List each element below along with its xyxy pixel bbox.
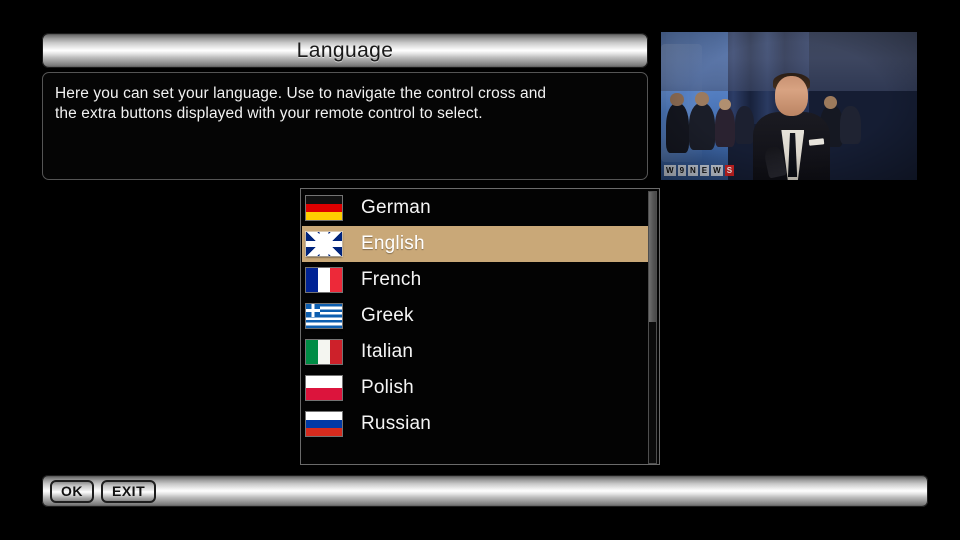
language-list-item[interactable]: Greek	[302, 298, 650, 334]
language-list-item[interactable]: Italian	[302, 334, 650, 370]
language-label: Greek	[361, 305, 414, 327]
language-label: German	[361, 197, 431, 219]
language-list-item[interactable]: English	[302, 226, 650, 262]
live-tv-preview[interactable]: W 9 N E W S	[661, 32, 917, 180]
language-list: GermanEnglishFrenchGreekItalianPolishRus…	[302, 190, 650, 442]
language-list-item[interactable]: Polish	[302, 370, 650, 406]
exit-button[interactable]: EXIT	[101, 480, 156, 503]
bottom-action-bar: OK EXIT	[42, 475, 928, 507]
language-label: French	[361, 269, 421, 291]
page-title: Language	[297, 39, 394, 63]
list-scrollbar-thumb[interactable]	[649, 192, 656, 322]
list-scrollbar[interactable]	[648, 191, 657, 464]
language-list-item[interactable]: German	[302, 190, 650, 226]
language-label: Russian	[361, 413, 431, 435]
flag-poland-icon	[306, 376, 342, 400]
language-label: English	[361, 233, 425, 255]
language-list-item[interactable]: French	[302, 262, 650, 298]
flag-greece-icon	[306, 304, 342, 328]
help-description-box: Here you can set your language. Use to n…	[42, 72, 648, 180]
flag-france-icon	[306, 268, 342, 292]
help-description-text: Here you can set your language. Use to n…	[55, 84, 635, 124]
preview-vignette	[661, 32, 917, 180]
language-list-item[interactable]: Russian	[302, 406, 650, 442]
language-label: Italian	[361, 341, 413, 363]
language-list-panel: GermanEnglishFrenchGreekItalianPolishRus…	[300, 188, 660, 465]
ok-button[interactable]: OK	[50, 480, 94, 503]
language-label: Polish	[361, 377, 414, 399]
flag-united-kingdom-icon	[306, 232, 342, 256]
title-bar: Language	[42, 33, 648, 68]
tv-settings-screen: Language Here you can set your language.…	[0, 0, 960, 540]
flag-germany-icon	[306, 196, 342, 220]
flag-russia-icon	[306, 412, 342, 436]
flag-italy-icon	[306, 340, 342, 364]
